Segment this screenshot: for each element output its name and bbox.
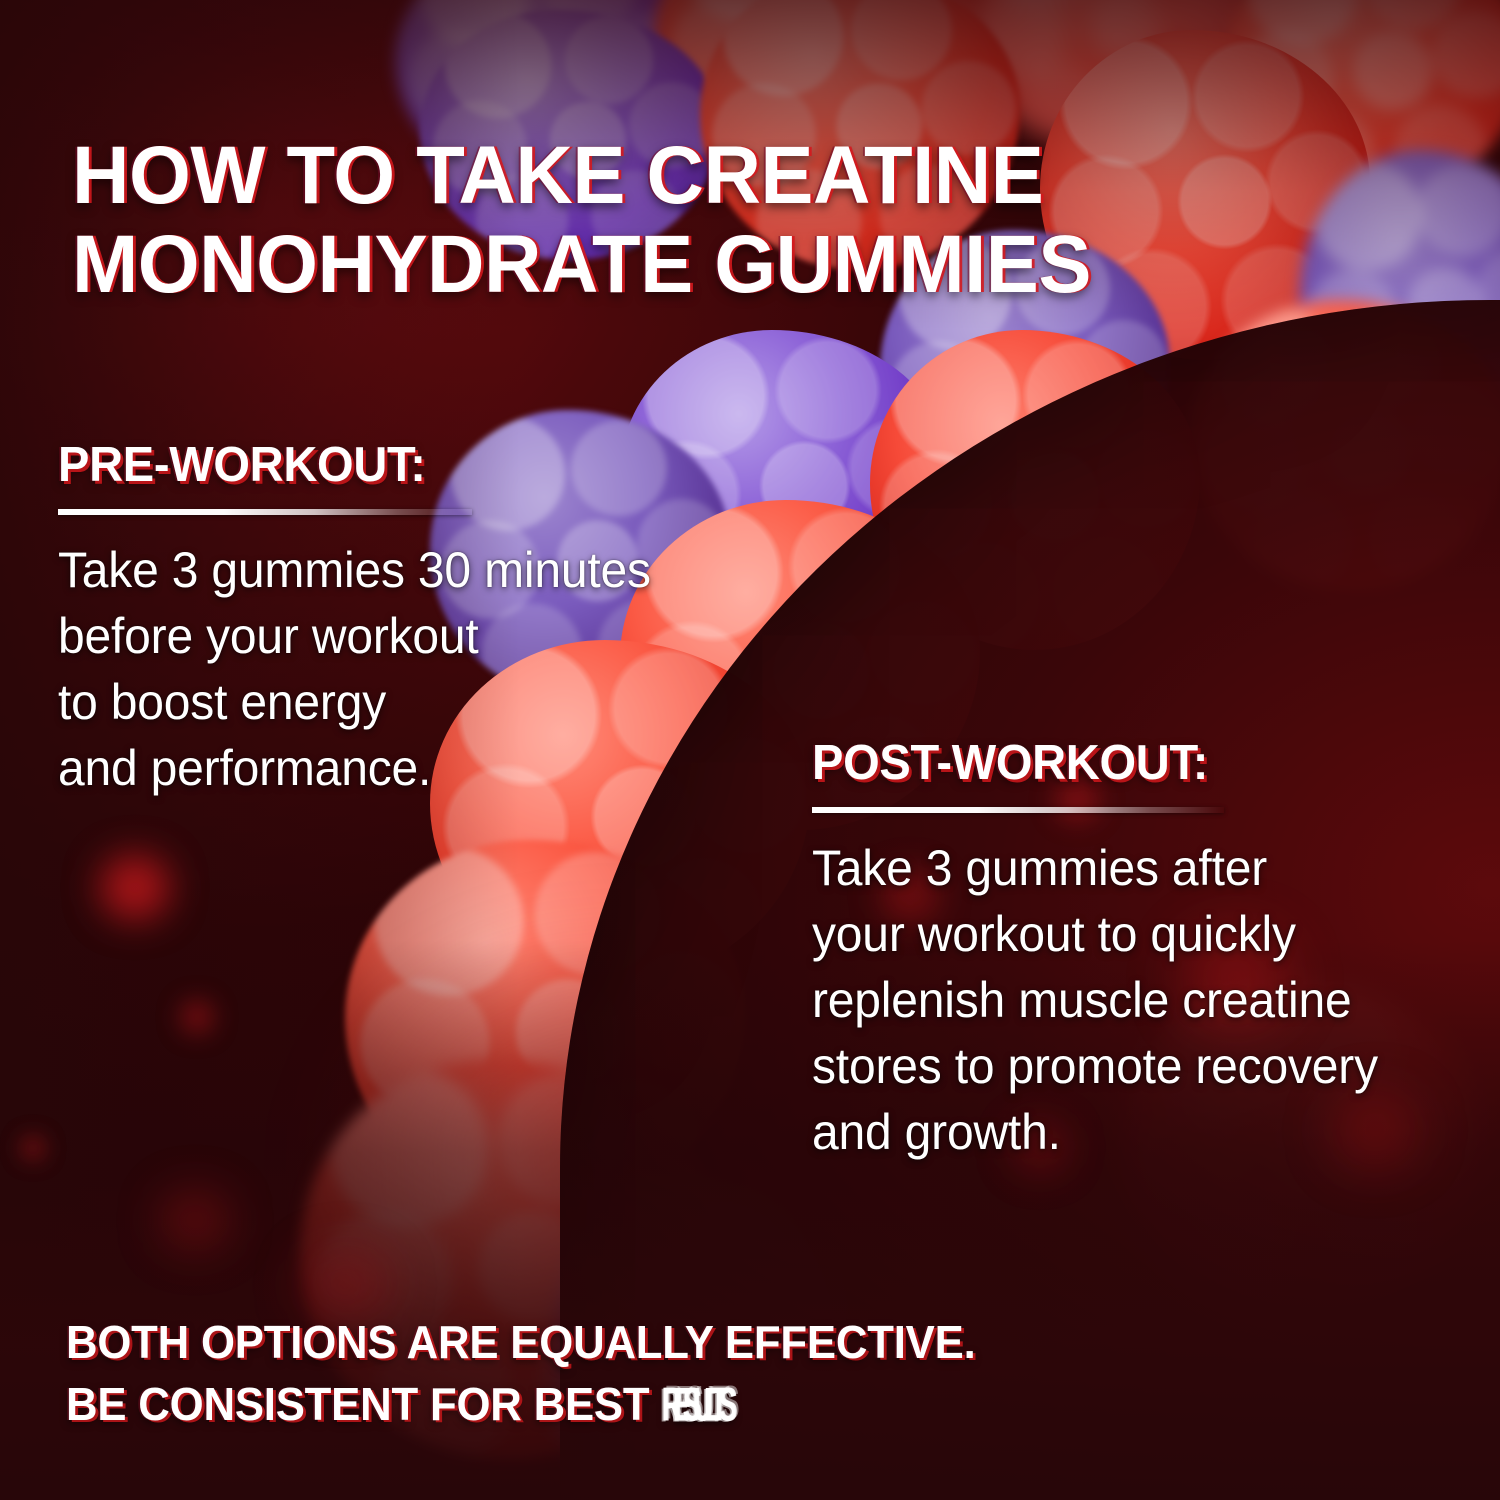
pre-workout-heading: PRE-WORKOUT: <box>58 437 759 493</box>
creatine-gummies-infographic: HOW TO TAKE CREATINE MONOHYDRATE GUMMIES… <box>0 0 1500 1500</box>
pre-workout-body-line-2: before your workout <box>58 603 759 669</box>
pre-workout-body-line-4: and performance. <box>58 735 759 801</box>
post-workout-body-line-3: replenish muscle creatine <box>812 967 1446 1033</box>
page-title-line-1: HOW TO TAKE CREATINE <box>72 130 1043 221</box>
post-workout-body-line-2: your workout to quickly <box>812 901 1446 967</box>
footer-line-2-prefix: BE CONSISTENT FOR BEST <box>66 1378 661 1430</box>
post-workout-heading: POST-WORKOUT: <box>812 735 1446 791</box>
post-workout-body-line-4: stores to promote recovery <box>812 1033 1446 1099</box>
pre-workout-body-line-3: to boost energy <box>58 669 759 735</box>
footer-line-1: BOTH OPTIONS ARE EQUALLY EFFECTIVE. <box>66 1312 1301 1374</box>
pre-workout-body-line-1: Take 3 gummies 30 minutes <box>58 537 759 603</box>
post-workout-body-line-1: Take 3 gummies after <box>812 835 1446 901</box>
post-workout-underline <box>812 807 1224 813</box>
post-workout-block: POST-WORKOUT: Take 3 gummies after your … <box>812 735 1472 1165</box>
pre-workout-block: PRE-WORKOUT: Take 3 gummies 30 minutes b… <box>58 437 788 801</box>
footer-line-2: BE CONSISTENT FOR BEST RESULTS <box>66 1374 1301 1436</box>
pre-workout-body: Take 3 gummies 30 minutes before your wo… <box>58 537 759 801</box>
post-workout-body: Take 3 gummies after your workout to qui… <box>812 835 1446 1165</box>
page-title-line-2: MONOHYDRATE GUMMIES <box>72 220 1430 309</box>
page-title: HOW TO TAKE CREATINE MONOHYDRATE GUMMIES <box>72 131 1430 310</box>
pre-workout-underline <box>58 509 472 515</box>
post-workout-body-line-5: and growth. <box>812 1099 1446 1165</box>
footer-note: BOTH OPTIONS ARE EQUALLY EFFECTIVE. BE C… <box>66 1312 1301 1435</box>
footer-line-2-glitched-word: RESULTS <box>661 1373 728 1436</box>
content-layer: HOW TO TAKE CREATINE MONOHYDRATE GUMMIES… <box>0 0 1500 1500</box>
